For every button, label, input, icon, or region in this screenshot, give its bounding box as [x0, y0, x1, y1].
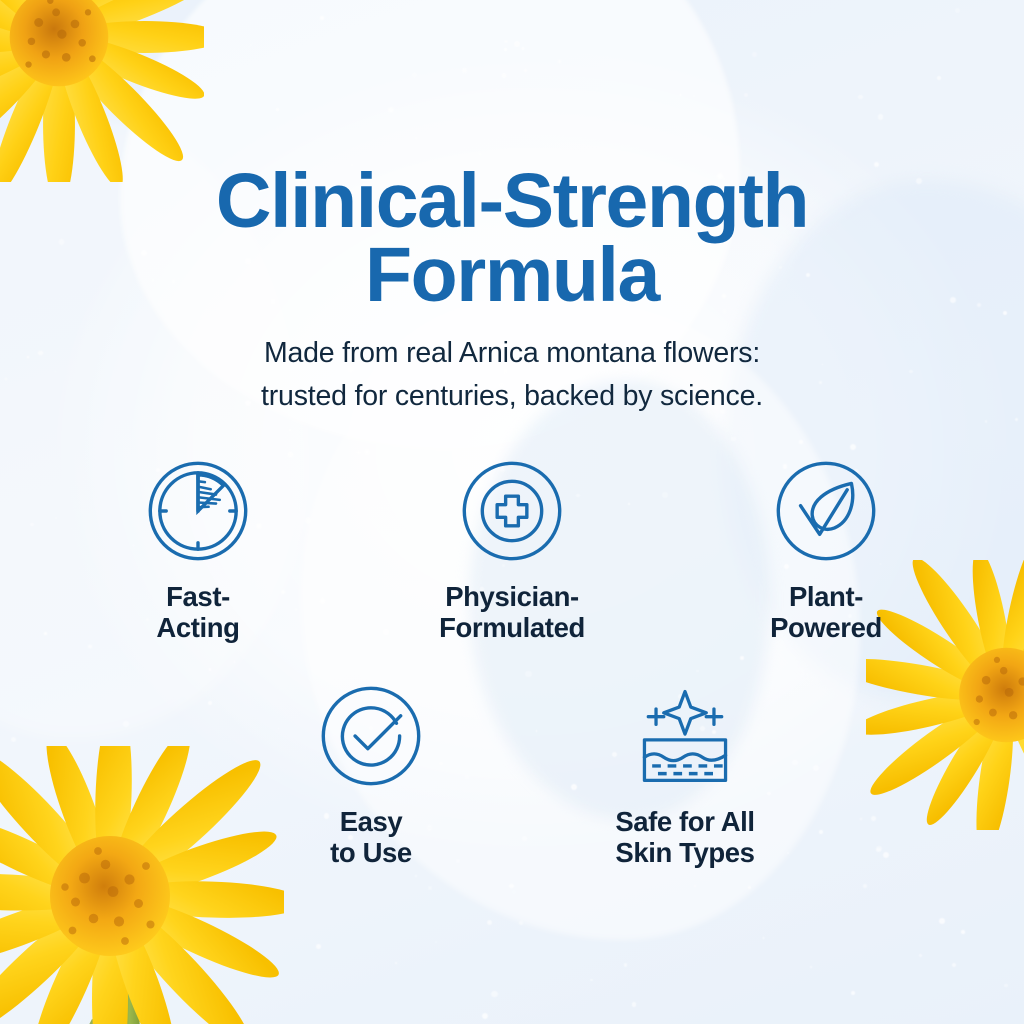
- feature-easy-to-use: Easy to Use: [273, 680, 469, 869]
- page-title-line-2: Formula: [0, 238, 1024, 313]
- product-benefits-poster: Clinical-Strength Formula Made from real…: [0, 0, 1024, 1024]
- feature-safe-all-skin-types: Safe for All Skin Types: [587, 680, 783, 869]
- feature-label-plant-powered: Plant- Powered: [770, 581, 882, 644]
- feature-label-line-1: Physician-: [439, 581, 585, 612]
- feature-label-line-2: to Use: [330, 837, 412, 868]
- check-circle-icon: [315, 680, 427, 792]
- feature-grid: Fast- Acting Physician- Formulated: [0, 455, 1024, 868]
- feature-label-line-2: Formulated: [439, 612, 585, 643]
- feature-label-physician-formulated: Physician- Formulated: [439, 581, 585, 644]
- feature-label-fast-acting: Fast- Acting: [156, 581, 239, 644]
- feature-row-1: Fast- Acting Physician- Formulated: [0, 455, 1024, 644]
- page-title-line-1: Clinical-Strength: [216, 158, 808, 244]
- stopwatch-timer-icon: [142, 455, 254, 567]
- medical-cross-circle-icon: [456, 455, 568, 567]
- page-title: Clinical-Strength Formula: [0, 164, 1024, 313]
- arnica-flower-top-left: [0, 0, 204, 182]
- feature-label-line-1: Plant-: [770, 581, 882, 612]
- page-subtitle: Made from real Arnica montana flowers: t…: [0, 332, 1024, 419]
- page-subtitle-line-1: Made from real Arnica montana flowers:: [264, 337, 760, 369]
- skin-layers-sparkle-icon: [629, 680, 741, 792]
- feature-row-2: Easy to Use: [0, 680, 1024, 869]
- feature-label-safe-all-skin-types: Safe for All Skin Types: [615, 806, 754, 869]
- feature-label-line-1: Fast-: [156, 581, 239, 612]
- feature-label-line-2: Skin Types: [615, 837, 754, 868]
- feature-plant-powered: Plant- Powered: [728, 455, 924, 644]
- feature-label-line-1: Easy: [330, 806, 412, 837]
- feature-label-line-2: Acting: [156, 612, 239, 643]
- page-subtitle-line-2: trusted for centuries, backed by science…: [0, 375, 1024, 418]
- feature-label-line-2: Powered: [770, 612, 882, 643]
- leaf-circle-icon: [770, 455, 882, 567]
- feature-fast-acting: Fast- Acting: [100, 455, 296, 644]
- feature-physician-formulated: Physician- Formulated: [414, 455, 610, 644]
- feature-label-easy-to-use: Easy to Use: [330, 806, 412, 869]
- feature-label-line-1: Safe for All: [615, 806, 754, 837]
